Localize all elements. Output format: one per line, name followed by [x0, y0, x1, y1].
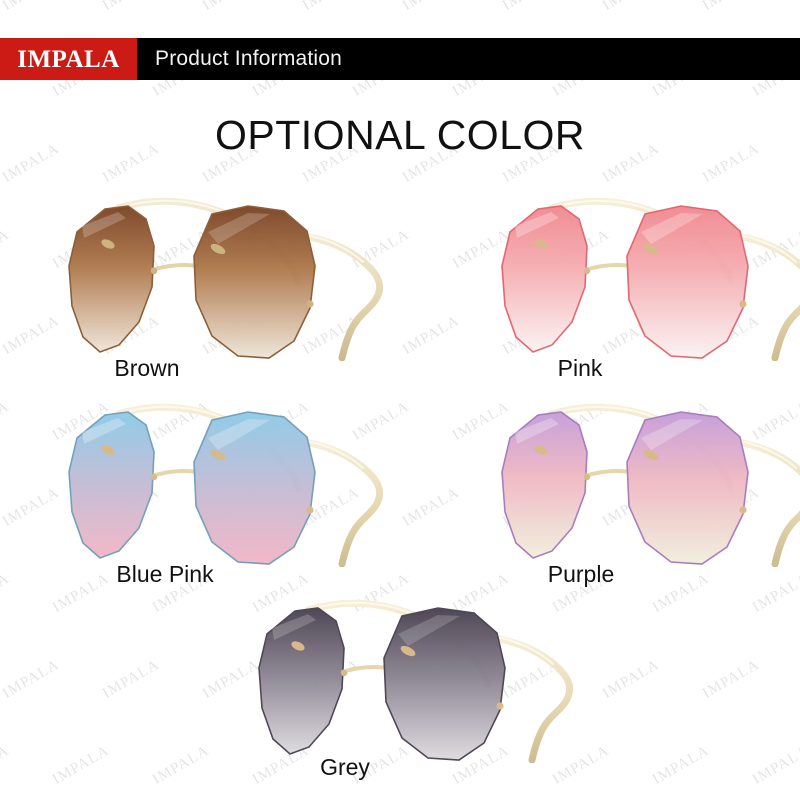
- watermark-text: IMPALA: [200, 0, 263, 15]
- watermark-text: IMPALA: [0, 399, 13, 445]
- page-header: IMPALA Product Information: [0, 38, 800, 80]
- right-lens-pink: [627, 206, 748, 358]
- product-pink: [455, 186, 800, 361]
- watermark-text: IMPALA: [650, 743, 713, 789]
- watermark-text: IMPALA: [0, 0, 63, 15]
- watermark-text: IMPALA: [400, 0, 463, 15]
- product-grey: [212, 588, 592, 763]
- bridge: [585, 471, 631, 476]
- watermark-text: IMPALA: [300, 0, 363, 15]
- sunglasses-image-pink: [455, 186, 800, 361]
- bridge: [585, 265, 631, 270]
- watermark-text: IMPALA: [600, 0, 663, 15]
- product-purple: [455, 392, 800, 567]
- right-lens-blue-pink: [194, 412, 315, 564]
- product-information-page: IMPALA Product Information OPTIONAL COLO…: [0, 0, 800, 800]
- brand-name: IMPALA: [17, 47, 120, 72]
- brand-logo-block: IMPALA: [0, 38, 137, 80]
- bridge: [152, 265, 198, 270]
- color-label-grey: Grey: [245, 754, 445, 781]
- sunglasses-image-grey: [212, 588, 592, 763]
- page-title: OPTIONAL COLOR: [0, 112, 800, 159]
- watermark-text: IMPALA: [400, 313, 463, 359]
- watermark-text: IMPALA: [400, 485, 463, 531]
- watermark-text: IMPALA: [0, 657, 63, 703]
- product-blue-pink: [22, 392, 402, 567]
- color-label-blue-pink: Blue Pink: [65, 561, 265, 588]
- watermark-text: IMPALA: [500, 0, 563, 15]
- sunglasses-image-brown: [22, 186, 402, 361]
- watermark-text: IMPALA: [600, 657, 663, 703]
- left-lens-pink: [502, 206, 587, 352]
- watermark-text: IMPALA: [0, 743, 13, 789]
- watermark-text: IMPALA: [750, 743, 800, 789]
- left-lens-blue-pink: [69, 412, 154, 558]
- watermark-text: IMPALA: [700, 0, 763, 15]
- left-lens-brown: [69, 206, 154, 352]
- watermark-text: IMPALA: [100, 657, 163, 703]
- bridge: [152, 471, 198, 476]
- sunglasses-image-blue-pink: [22, 392, 402, 567]
- watermark-text: IMPALA: [100, 0, 163, 15]
- watermark-text: IMPALA: [750, 571, 800, 617]
- sunglasses-image-purple: [455, 392, 800, 567]
- left-lens-grey: [259, 608, 344, 754]
- watermark-text: IMPALA: [150, 743, 213, 789]
- left-lens-purple: [502, 412, 587, 558]
- right-lens-purple: [627, 412, 748, 564]
- color-label-pink: Pink: [480, 355, 680, 382]
- header-title: Product Information: [137, 38, 342, 80]
- right-lens-grey: [384, 608, 505, 760]
- watermark-text: IMPALA: [0, 227, 13, 273]
- watermark-text: IMPALA: [50, 743, 113, 789]
- product-brown: [22, 186, 402, 361]
- watermark-text: IMPALA: [700, 657, 763, 703]
- color-label-brown: Brown: [47, 355, 247, 382]
- color-label-purple: Purple: [481, 561, 681, 588]
- right-lens-brown: [194, 206, 315, 358]
- watermark-text: IMPALA: [0, 571, 13, 617]
- bridge: [342, 667, 388, 672]
